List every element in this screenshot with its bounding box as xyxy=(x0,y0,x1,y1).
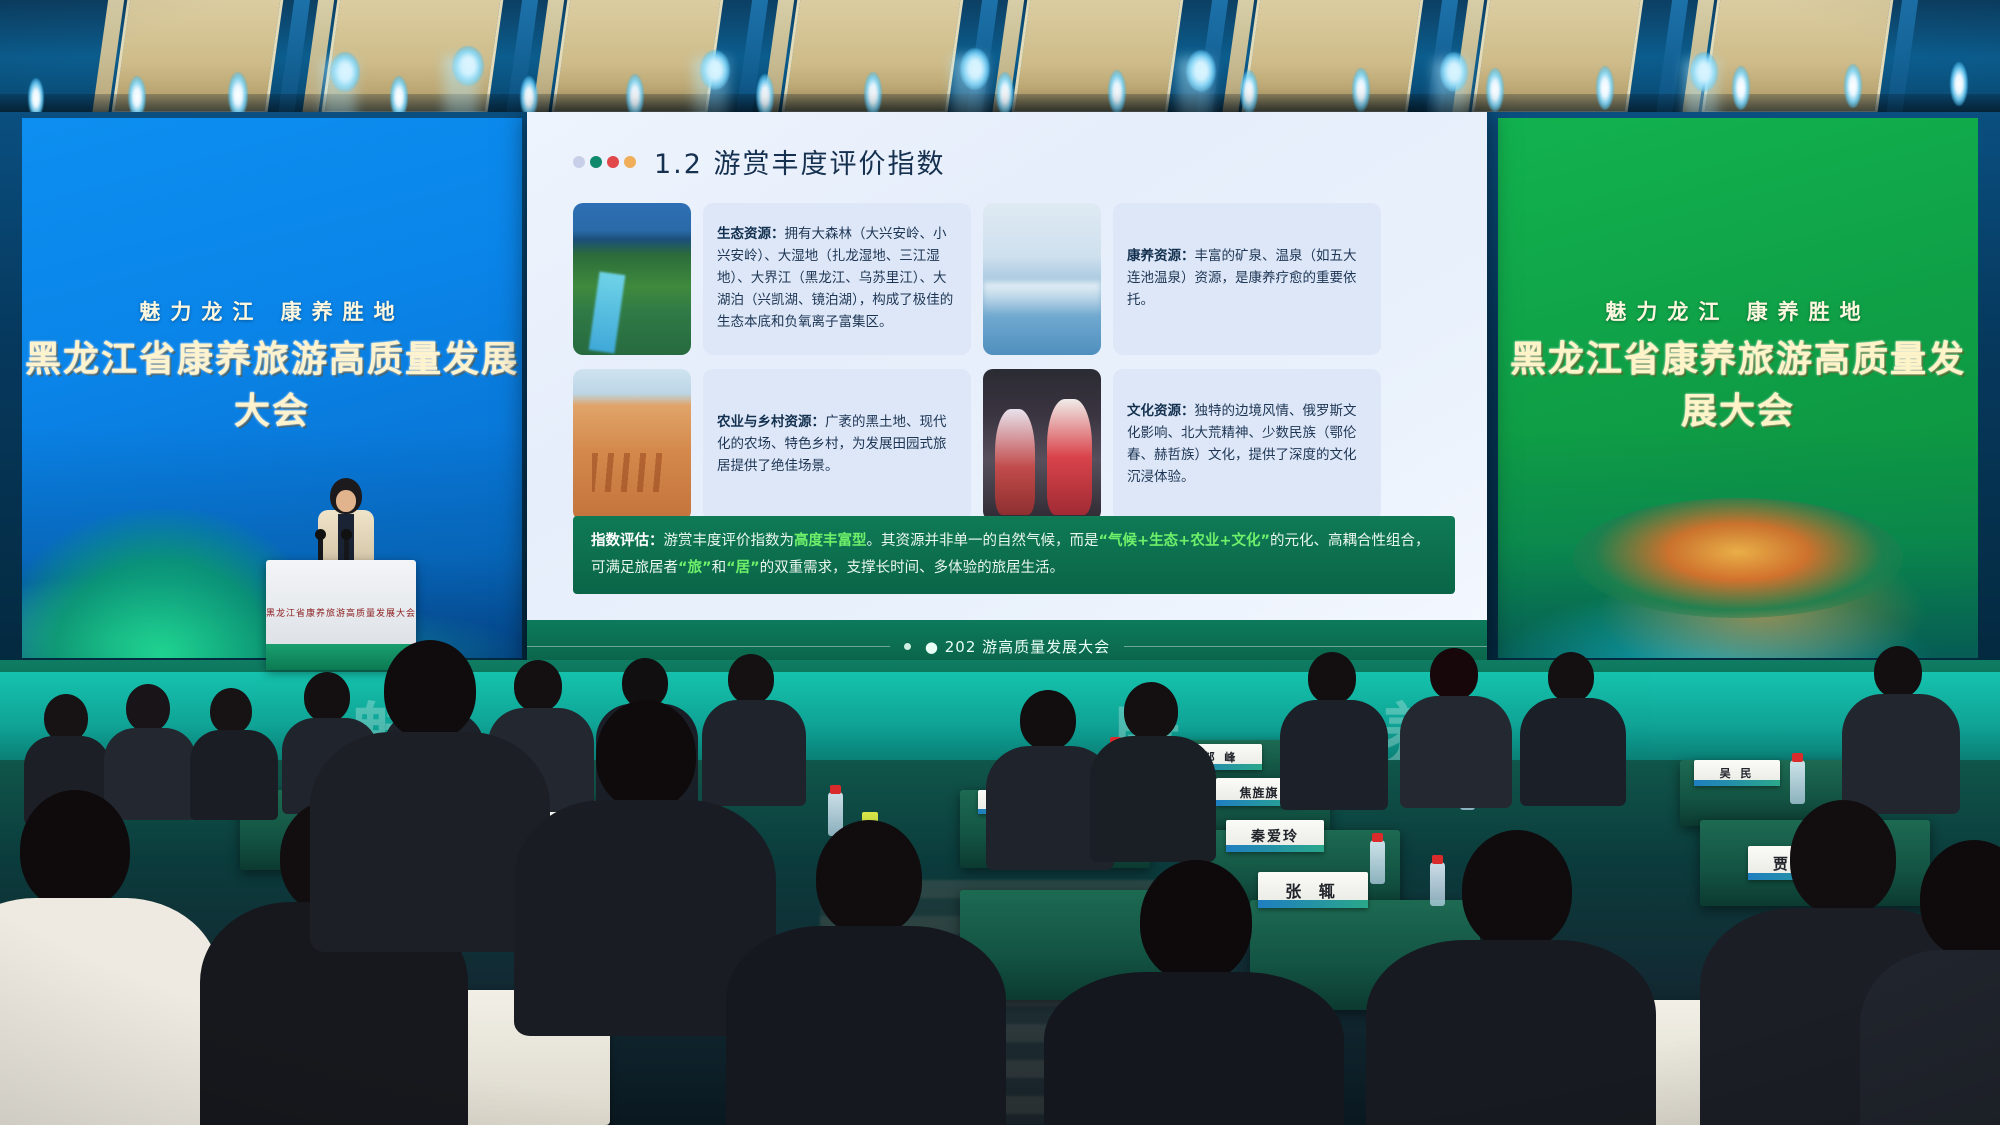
culture-resource-card: 文化资源：独特的边境风情、俄罗斯文化影响、北大荒精神、少数民族（鄂伦春、赫哲族）… xyxy=(1113,369,1381,521)
ceiling-spotlight xyxy=(1486,68,1504,112)
podium: 黑龙江省康养旅游高质量发展大会 xyxy=(266,560,416,670)
left-banner-tagline: 魅力龙江 康养胜地 xyxy=(22,296,522,326)
ceiling-spotlight xyxy=(1950,62,1968,106)
agriculture-resource-card: 农业与乡村资源：广袤的黑土地、现代化的农场、特色乡村，为发展田园式旅居提供了绝佳… xyxy=(703,369,971,521)
forest-river-photo xyxy=(573,203,691,355)
footer-bullet-icon xyxy=(904,643,911,650)
summary-part1: 游赏丰度评价指数为 xyxy=(664,533,795,549)
right-banner-panel: 魅力龙江 康养胜地 黑龙江省康养旅游高质量发展大会 xyxy=(1498,118,1978,658)
farmland-photo xyxy=(573,369,691,521)
footer-rule-left xyxy=(527,646,890,647)
water-bottle xyxy=(1790,760,1805,804)
eco-resource-card: 生态资源：拥有大森林（大兴安岭、小兴安岭）、大湿地（扎龙湿地、三江湿地）、大界江… xyxy=(703,203,971,355)
summary-part2: 。其资源并非单一的自然气候，而是 xyxy=(867,533,1099,549)
slide-card-grid: 生态资源：拥有大森林（大兴安岭、小兴安岭）、大湿地（扎龙湿地、三江湿地）、大界江… xyxy=(573,203,1459,521)
agriculture-card-heading: 农业与乡村资源： xyxy=(717,414,825,430)
dot-red-icon xyxy=(607,156,619,168)
right-banner-title: 黑龙江省康养旅游高质量发展大会 xyxy=(1498,330,1978,434)
slide: 1.2 游赏丰度评价指数 生态资源：拥有大森林（大兴安岭、小兴安岭）、大湿地（扎… xyxy=(527,112,1487,620)
slide-dot-group xyxy=(573,156,636,168)
summary-part4: 和 xyxy=(712,560,727,576)
footer-rule-right xyxy=(1124,646,1487,647)
screen-footer-text: ● 202 游高质量发展大会 xyxy=(925,636,1110,657)
water-bottle xyxy=(1370,840,1385,884)
summary-quote-formula: “气候+生态+农业+文化” xyxy=(1099,533,1271,549)
slide-header: 1.2 游赏丰度评价指数 xyxy=(573,142,1459,181)
ceiling-spotlight xyxy=(1108,70,1126,114)
name-card: 张 辄 xyxy=(1258,872,1368,908)
dot-orange-icon xyxy=(624,156,636,168)
summary-part5: 的双重需求，支撑长时间、多体验的旅居生活。 xyxy=(760,560,1065,576)
podium-sign-text: 黑龙江省康养旅游高质量发展大会 xyxy=(266,606,416,619)
culture-card-heading: 文化资源： xyxy=(1127,403,1195,419)
dot-teal-icon xyxy=(590,156,602,168)
slide-title: 1.2 游赏丰度评价指数 xyxy=(654,142,946,181)
right-banner-island xyxy=(1573,498,1903,618)
ceiling-spotlight xyxy=(864,72,882,116)
eco-card-heading: 生态资源： xyxy=(717,226,785,242)
led-presentation-screen: 1.2 游赏丰度评价指数 生态资源：拥有大森林（大兴安岭、小兴安岭）、大湿地（扎… xyxy=(527,112,1487,672)
name-card: 秦爱玲 xyxy=(1226,820,1324,852)
ceiling-spotlight xyxy=(996,72,1014,116)
wellness-resource-card: 康养资源：丰富的矿泉、温泉（如五大连池温泉）资源，是康养疗愈的重要依托。 xyxy=(1113,203,1381,355)
summary-label: 指数评估： xyxy=(591,533,664,549)
ceiling-spotlight xyxy=(1352,68,1370,112)
summary-quote-stay: “居” xyxy=(726,560,760,576)
right-banner-tagline: 魅力龙江 康养胜地 xyxy=(1498,296,1978,326)
name-card: 吴 民 xyxy=(1694,760,1780,786)
ceiling-spotlight xyxy=(1240,70,1258,114)
wellness-card-heading: 康养资源： xyxy=(1127,248,1195,264)
index-assessment-summary: 指数评估：游赏丰度评价指数为高度丰富型。其资源并非单一的自然气候，而是“气候+生… xyxy=(573,516,1455,594)
left-banner-title: 黑龙江省康养旅游高质量发展大会 xyxy=(22,330,522,434)
conference-hall-scene: 魅力龙江 康养胜地 黑龙江省康养旅游高质量发展大会 魅力龙江 康养胜地 黑龙江省… xyxy=(0,0,2000,1125)
hot-spring-photo xyxy=(983,203,1101,355)
ceiling-spotlight xyxy=(1844,64,1862,108)
ceiling-spotlight xyxy=(1596,66,1614,110)
summary-quote-travel: “旅” xyxy=(678,560,712,576)
dot-lavender-icon xyxy=(573,156,585,168)
ethnic-costume-photo xyxy=(983,369,1101,521)
summary-highlight: 高度丰富型 xyxy=(794,533,867,549)
ceiling-spotlight xyxy=(1732,66,1750,110)
water-bottle xyxy=(1430,862,1445,906)
